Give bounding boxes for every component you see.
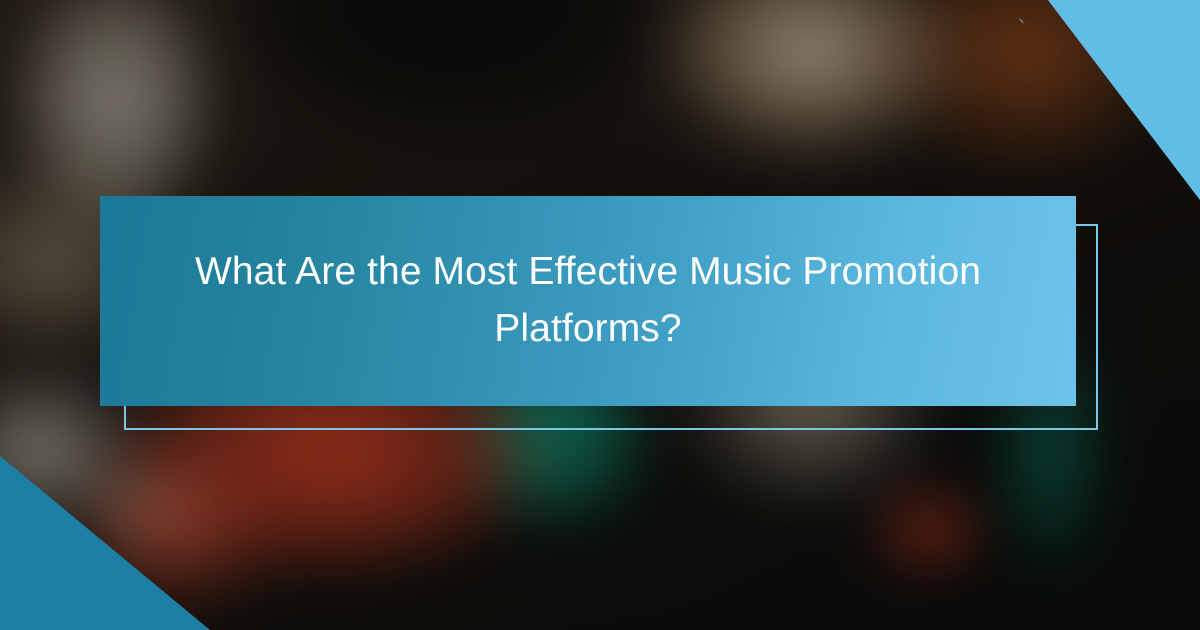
page-title: What Are the Most Effective Music Promot…	[193, 244, 983, 358]
hero-card: What Are the Most Effective Music Promot…	[0, 0, 1200, 630]
title-banner: What Are the Most Effective Music Promot…	[100, 196, 1076, 406]
